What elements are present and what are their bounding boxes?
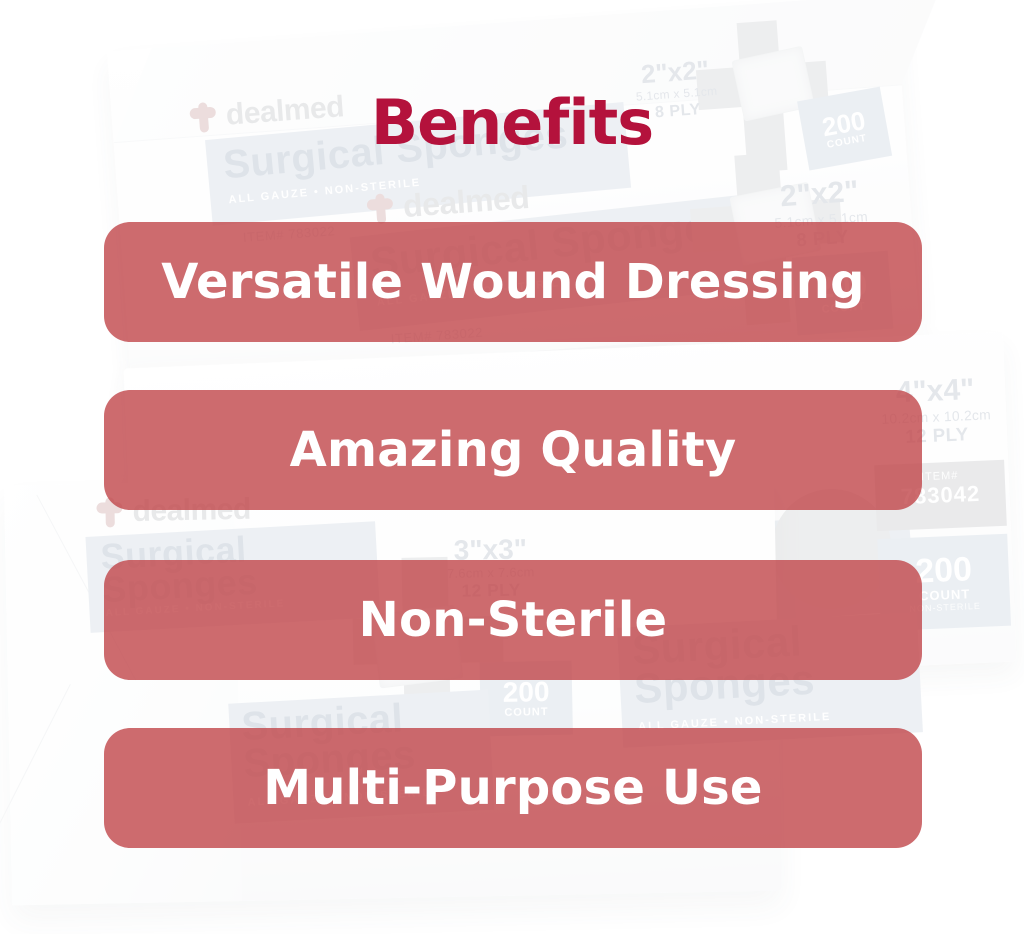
- benefits-graphic: dealmed Surgical Sponges ALL GAUZE • NON…: [0, 0, 1024, 934]
- benefit-pill-non-sterile[interactable]: Non-Sterile: [104, 560, 922, 680]
- benefit-label: Multi-Purpose Use: [263, 760, 762, 816]
- benefit-pill-amazing-quality[interactable]: Amazing Quality: [104, 390, 922, 510]
- page-title: Benefits: [0, 86, 1024, 159]
- dealmed-wordmark: dealmed: [402, 179, 531, 225]
- benefit-label: Amazing Quality: [290, 422, 737, 478]
- count-number: 200: [915, 552, 973, 588]
- benefit-pill-versatile-wound-dressing[interactable]: Versatile Wound Dressing: [104, 222, 922, 342]
- count-label: COUNT: [504, 706, 548, 719]
- benefit-label: Versatile Wound Dressing: [161, 254, 864, 310]
- dealmed-logo-mark-icon: [366, 192, 394, 224]
- benefit-label: Non-Sterile: [359, 592, 668, 648]
- count-number: 200: [502, 678, 549, 707]
- benefit-pill-multi-purpose-use[interactable]: Multi-Purpose Use: [104, 728, 922, 848]
